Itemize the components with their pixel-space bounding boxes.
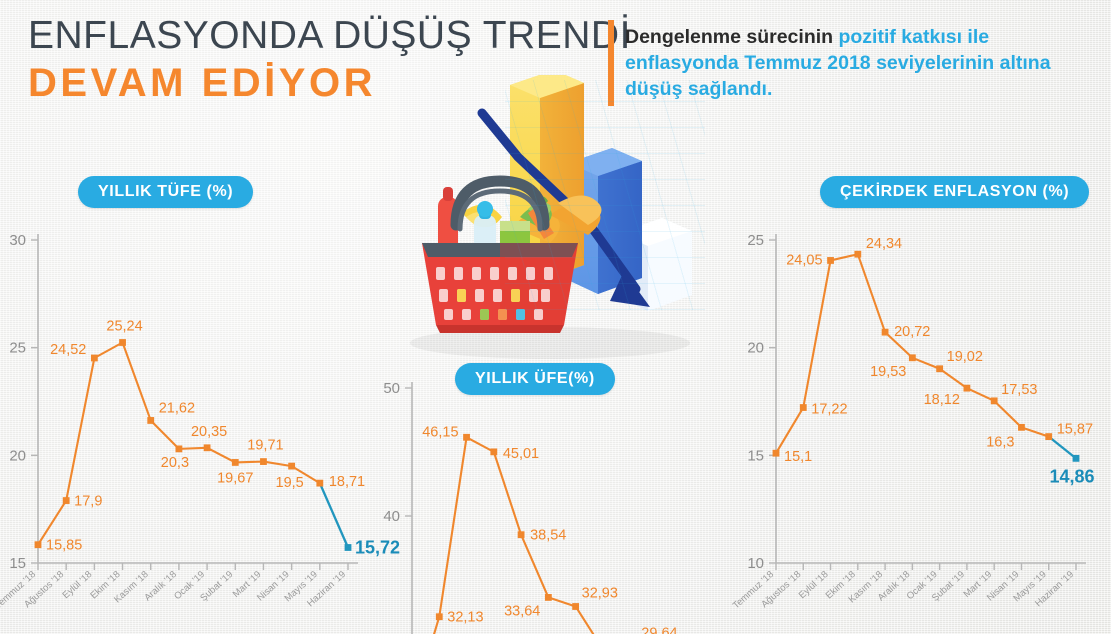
data-point-marker: [991, 397, 998, 404]
data-point-marker: [1073, 455, 1080, 462]
chart-yillik-ufe: 304050Temmuz '18Ağustos '18Eylül '18Ekim…: [378, 372, 758, 634]
chart-yillik-ufe-svg: 304050Temmuz '18Ağustos '18Eylül '18Ekim…: [378, 372, 758, 634]
data-value-label: 29,64: [641, 626, 677, 634]
data-value-label: 24,34: [866, 236, 902, 252]
data-value-label: 19,71: [247, 438, 283, 454]
data-point-marker: [1018, 424, 1025, 431]
y-axis-tick-label: 20: [747, 340, 764, 357]
data-value-label: 32,13: [447, 610, 483, 626]
subtitle-plain: Dengelenme sürecinin: [625, 26, 838, 48]
data-point-marker: [1045, 433, 1052, 440]
chart-cekirdek-enflasyon-svg: 10152025Temmuz '18Ağustos '18Eylül '18Ek…: [738, 222, 1111, 634]
y-axis-tick-label: 50: [383, 380, 400, 397]
data-point-marker: [260, 458, 267, 465]
data-point-marker: [232, 459, 239, 466]
data-value-label: 17,22: [811, 402, 847, 418]
data-value-label: 19,53: [870, 364, 906, 380]
data-value-label: 15,85: [46, 538, 82, 554]
illustration-bars-basket: [400, 75, 710, 375]
data-value-label: 17,9: [74, 494, 102, 510]
data-point-marker: [316, 480, 323, 487]
data-point-marker: [545, 594, 552, 601]
data-point-marker: [147, 417, 154, 424]
data-value-label: 45,01: [503, 446, 539, 462]
data-value-label: 21,62: [159, 400, 195, 416]
data-point-marker: [345, 544, 352, 551]
data-point-marker: [463, 434, 470, 441]
data-point-marker: [204, 444, 211, 451]
highlighted-value-label: 14,86: [1049, 466, 1094, 486]
chart-cekirdek-enflasyon: 10152025Temmuz '18Ağustos '18Eylül '18Ek…: [738, 222, 1111, 634]
data-point-marker: [882, 329, 889, 336]
data-value-label: 46,15: [422, 424, 458, 440]
data-value-label: 19,02: [947, 349, 983, 365]
y-axis-tick-label: 20: [9, 447, 26, 464]
data-value-label: 32,93: [582, 585, 618, 601]
chart-yillik-tufe-svg: 15202530Temmuz '18Ağustos '18Eylül '18Ek…: [0, 222, 400, 634]
y-axis-tick-label: 25: [9, 340, 26, 357]
data-point-marker: [288, 463, 295, 470]
data-value-label: 24,52: [50, 342, 86, 358]
y-axis-tick-label: 25: [747, 232, 764, 249]
data-point-marker: [35, 541, 42, 548]
data-value-label: 19,5: [276, 475, 304, 491]
data-value-label: 33,64: [504, 603, 540, 619]
data-point-marker: [964, 385, 971, 392]
background-grid: [505, 80, 705, 310]
data-value-label: 16,3: [986, 434, 1014, 450]
badge-yillik-tufe: YILLIK TÜFE (%): [78, 176, 253, 208]
data-point-marker: [909, 354, 916, 361]
infographic-page: ENFLASYONDA DÜŞÜŞ TRENDİ DEVAM EDİYOR De…: [0, 0, 1111, 634]
data-value-label: 18,71: [329, 474, 365, 490]
data-point-marker: [518, 531, 525, 538]
data-point-marker: [490, 448, 497, 455]
data-point-marker: [436, 613, 443, 620]
data-value-label: 18,12: [924, 392, 960, 408]
data-value-label: 15,87: [1057, 422, 1093, 438]
data-point-marker: [936, 365, 943, 372]
data-value-label: 15,1: [784, 449, 812, 465]
x-axis-tick-label: Eylül '18: [61, 569, 95, 601]
data-point-marker: [854, 251, 861, 258]
data-value-label: 20,72: [894, 324, 930, 340]
y-axis-tick-label: 40: [383, 508, 400, 525]
page-title-line1: ENFLASYONDA DÜŞÜŞ TRENDİ: [28, 14, 608, 58]
data-value-label: 20,35: [191, 424, 227, 440]
data-point-marker: [827, 257, 834, 264]
data-point-marker: [176, 445, 183, 452]
chart-yillik-tufe: 15202530Temmuz '18Ağustos '18Eylül '18Ek…: [0, 222, 400, 634]
data-point-marker: [119, 339, 126, 346]
y-axis-tick-label: 30: [9, 232, 26, 249]
data-value-label: 25,24: [106, 318, 142, 334]
y-axis-tick-label: 10: [747, 555, 764, 572]
data-value-label: 20,3: [161, 455, 189, 471]
data-point-marker: [63, 497, 70, 504]
data-point-marker: [91, 355, 98, 362]
y-axis-tick-label: 15: [9, 555, 26, 572]
data-point-marker: [800, 404, 807, 411]
data-value-label: 24,05: [786, 252, 822, 268]
data-value-label: 19,67: [217, 470, 253, 486]
y-axis-tick-label: 15: [747, 447, 764, 464]
data-point-marker: [773, 450, 780, 457]
data-point-marker: [572, 603, 579, 610]
badge-cekirdek-enflasyon: ÇEKİRDEK ENFLASYON (%): [820, 176, 1089, 208]
data-value-label: 38,54: [530, 528, 566, 544]
data-value-label: 17,53: [1001, 382, 1037, 398]
